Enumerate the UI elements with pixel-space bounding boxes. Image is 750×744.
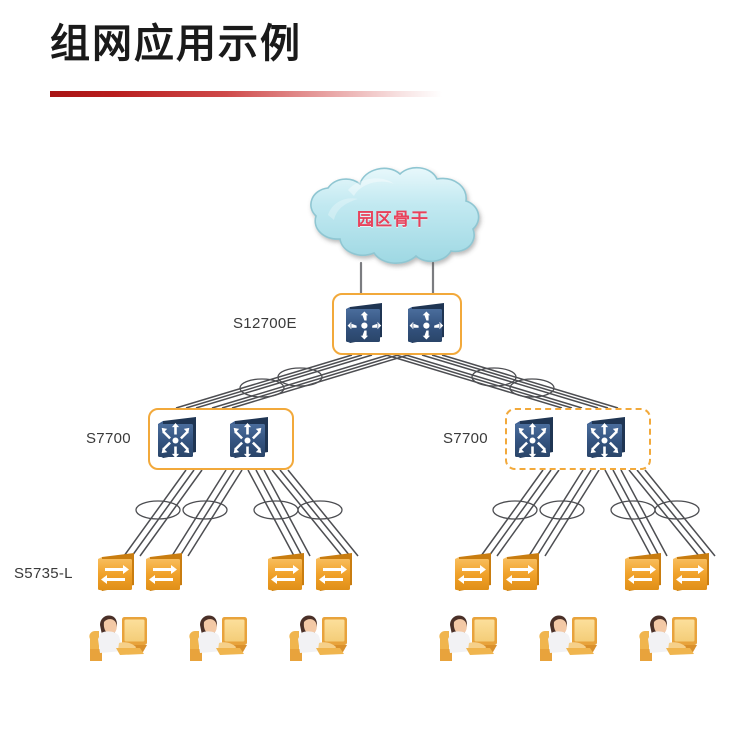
- user-workstation-4[interactable]: [428, 605, 502, 675]
- switch-4way-arrow-icon: [406, 301, 450, 347]
- switch-snowflake-icon: [513, 415, 559, 463]
- access-switch-8[interactable]: [671, 551, 715, 597]
- link-aggregation-marker: [510, 379, 554, 397]
- user-workstation-2[interactable]: [178, 605, 252, 675]
- user-at-workstation-icon: [278, 605, 352, 675]
- backbone-cloud: 园区骨干: [298, 160, 488, 275]
- switch-snowflake-icon: [228, 415, 274, 463]
- link-aggregation-marker: [183, 501, 227, 519]
- aggregation-left-switch-2[interactable]: [228, 415, 274, 463]
- aggregation-right-tier-label: S7700: [443, 430, 488, 447]
- switch-bidirectional-arrow-icon: [623, 551, 667, 597]
- link-aggregation-marker: [540, 501, 584, 519]
- access-switch-6[interactable]: [501, 551, 545, 597]
- access-switch-3[interactable]: [266, 551, 310, 597]
- link-agg-left-to-access: [124, 470, 358, 556]
- user-workstation-1[interactable]: [78, 605, 152, 675]
- switch-bidirectional-arrow-icon: [501, 551, 545, 597]
- user-workstation-3[interactable]: [278, 605, 352, 675]
- access-switch-1[interactable]: [96, 551, 140, 597]
- link-core-to-agg-right: [386, 355, 618, 408]
- core-tier-label: S12700E: [233, 315, 297, 332]
- switch-bidirectional-arrow-icon: [144, 551, 188, 597]
- user-workstation-5[interactable]: [528, 605, 602, 675]
- access-switch-7[interactable]: [623, 551, 667, 597]
- cloud-label: 园区骨干: [298, 205, 488, 230]
- core-switch-2[interactable]: [406, 301, 450, 347]
- access-switch-5[interactable]: [453, 551, 497, 597]
- aggregation-right-switch-2[interactable]: [585, 415, 631, 463]
- link-aggregation-marker: [240, 379, 284, 397]
- user-at-workstation-icon: [428, 605, 502, 675]
- network-topology-diagram: 园区骨干 S12700E: [0, 115, 750, 744]
- switch-bidirectional-arrow-icon: [671, 551, 715, 597]
- link-core-to-agg-left: [176, 355, 408, 408]
- user-at-workstation-icon: [78, 605, 152, 675]
- link-agg-right-to-access: [481, 470, 715, 556]
- page-header: 组网应用示例: [0, 0, 750, 115]
- title-underline-rule: [50, 91, 442, 97]
- link-aggregation-marker: [611, 501, 655, 519]
- link-aggregation-marker: [493, 501, 537, 519]
- link-aggregation-marker: [655, 501, 699, 519]
- user-at-workstation-icon: [528, 605, 602, 675]
- switch-snowflake-icon: [156, 415, 202, 463]
- switch-snowflake-icon: [585, 415, 631, 463]
- switch-bidirectional-arrow-icon: [96, 551, 140, 597]
- page-title: 组网应用示例: [50, 18, 302, 70]
- user-at-workstation-icon: [628, 605, 702, 675]
- switch-bidirectional-arrow-icon: [314, 551, 358, 597]
- access-tier-label: S5735-L: [14, 565, 73, 582]
- link-aggregation-marker: [278, 368, 322, 386]
- link-aggregation-marker: [472, 368, 516, 386]
- link-aggregation-marker: [254, 501, 298, 519]
- user-at-workstation-icon: [178, 605, 252, 675]
- access-switch-2[interactable]: [144, 551, 188, 597]
- aggregation-left-switch-1[interactable]: [156, 415, 202, 463]
- aggregation-right-switch-1[interactable]: [513, 415, 559, 463]
- switch-bidirectional-arrow-icon: [453, 551, 497, 597]
- user-workstation-6[interactable]: [628, 605, 702, 675]
- link-aggregation-marker: [298, 501, 342, 519]
- access-switch-4[interactable]: [314, 551, 358, 597]
- switch-bidirectional-arrow-icon: [266, 551, 310, 597]
- link-aggregation-marker: [136, 501, 180, 519]
- switch-4way-arrow-icon: [344, 301, 388, 347]
- core-switch-1[interactable]: [344, 301, 388, 347]
- aggregation-left-tier-label: S7700: [86, 430, 131, 447]
